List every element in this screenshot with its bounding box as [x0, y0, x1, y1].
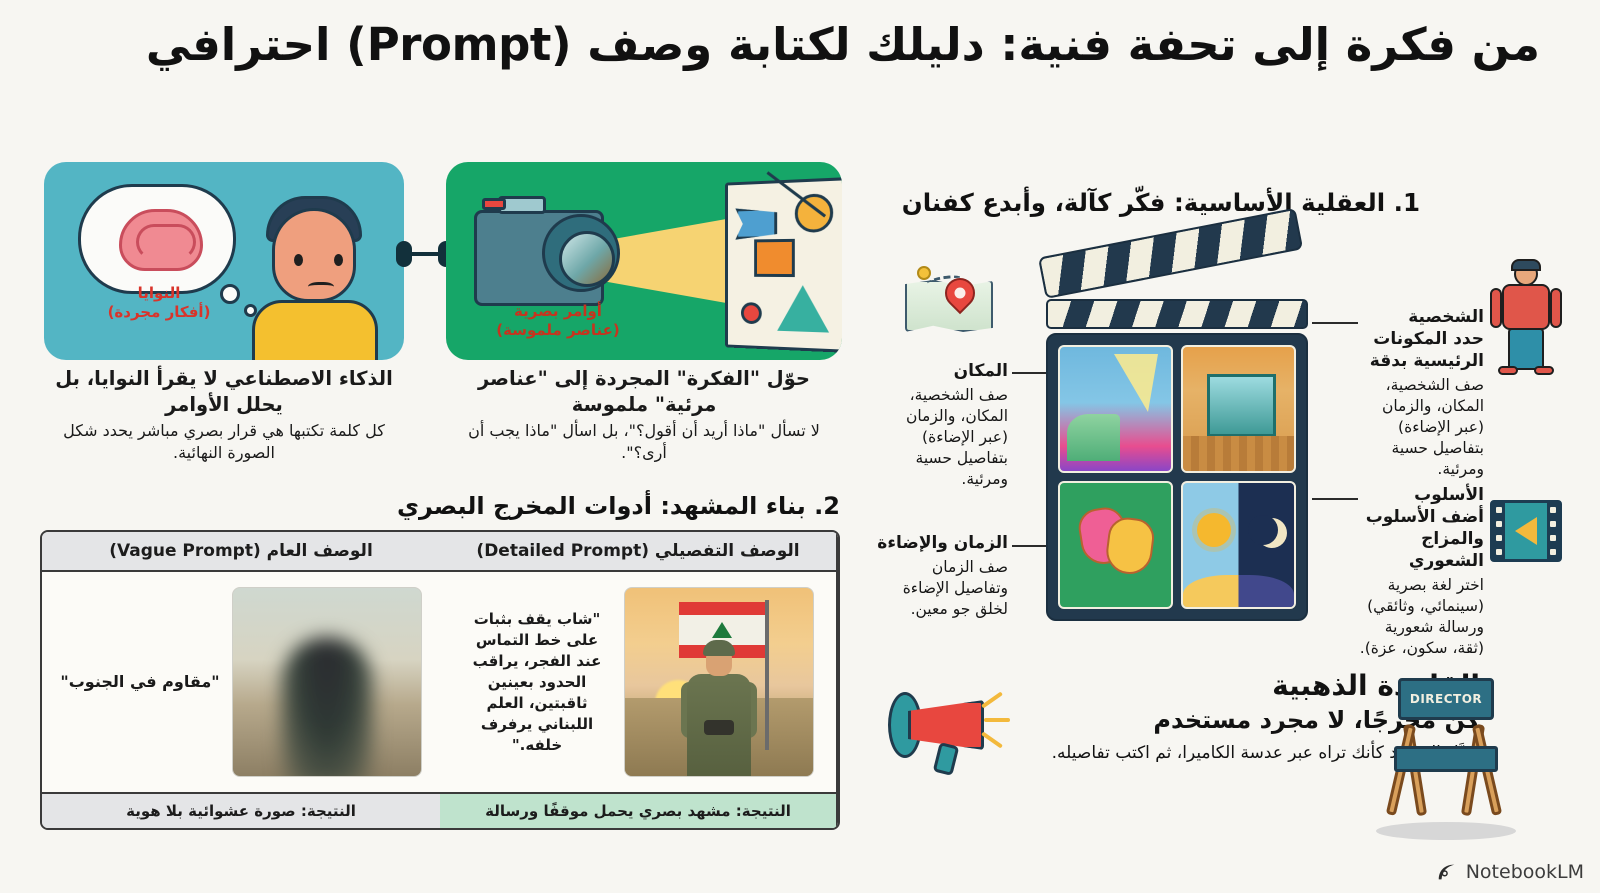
infographic-page: من فكرة إلى تحفة فنية: دليلك لكتابة وصف …	[0, 0, 1600, 893]
camera-shutter-button-icon	[482, 198, 506, 210]
watermark: NotebookLM	[1436, 861, 1584, 883]
table-footer-row: النتيجة: مشهد بصري يحمل موقفًا ورسالة ال…	[42, 792, 838, 828]
map-start-dot	[917, 266, 931, 280]
leader-line-style	[1312, 498, 1358, 500]
person-mouth	[308, 282, 334, 294]
daynight-ground	[1183, 575, 1294, 607]
visual-blurb-body: لا تسأل "ماذا أريد أن أقول؟"، بل اسأل "م…	[446, 420, 842, 463]
megaphone-icon	[880, 686, 1000, 778]
intent-blurb-headline: الذكاء الاصطناعي لا يقرأ النوايا، بل يحل…	[44, 366, 404, 417]
annotation-style: الأسلوب أضف الأسلوب والمزاج الشعوري اختر…	[1358, 484, 1484, 659]
table-body-row: "شاب يقف بثبات على خط التماس عند الفجر، …	[42, 572, 838, 792]
person-eye-left	[294, 254, 303, 266]
table-header-row: الوصف التفصيلي (Detailed Prompt) الوصف ا…	[42, 532, 838, 572]
person-arm-right	[1550, 288, 1562, 328]
megaphone-ray-1	[981, 691, 1003, 708]
clapperboard-icon	[1040, 295, 1310, 625]
table-cell-vague: "مقاوم في الجنوب"	[42, 572, 440, 792]
leader-line-character	[1312, 322, 1358, 324]
clapperboard-top-arm	[1038, 208, 1303, 299]
leader-line-place	[1012, 372, 1046, 374]
map-location-icon	[905, 262, 997, 338]
annotation-time-title: الزمان والإضاءة	[876, 532, 1008, 554]
shape-square-icon	[754, 239, 795, 277]
chair-backrest: DIRECTOR	[1398, 678, 1494, 720]
megaphone-ray-3	[981, 731, 1003, 748]
section-2-heading: 2. بناء المشهد: أدوات المخرج البصري	[40, 492, 840, 520]
visual-order-card: أوامر بصرية (عناصر ملموسة)	[446, 162, 842, 360]
annotation-time-body: صف الزمان وتفاصيل الإضاءة لخلق جو معين.	[876, 557, 1008, 620]
annotation-style-subtitle: أضف الأسلوب والمزاج الشعوري	[1358, 506, 1484, 572]
quadrant-mood-icon	[1058, 481, 1173, 609]
notebooklm-icon	[1436, 861, 1458, 883]
clapperboard-bottom-bar	[1046, 299, 1308, 329]
visual-blurb-headline: حوّل "الفكرة" المجردة إلى "عناصر مرئية" …	[446, 366, 842, 417]
binoculars-icon	[704, 720, 734, 735]
vague-prompt-quote: "مقاوم في الجنوب"	[60, 671, 219, 693]
shape-dot-icon	[741, 302, 762, 324]
annotation-place-body: صف الشخصية، المكان، والزمان (عبر الإضاءة…	[880, 385, 1008, 490]
quadrant-place-icon	[1181, 345, 1296, 473]
table-cell-detailed: "شاب يقف بثبات على خط التماس عند الفجر، …	[440, 572, 838, 792]
annotation-character-title: الشخصية	[1358, 306, 1484, 328]
theater-mask-happy-icon	[1104, 515, 1156, 576]
table-result-detailed: النتيجة: مشهد بصري يحمل موقفًا ورسالة	[440, 792, 838, 828]
visual-blurb: حوّل "الفكرة" المجردة إلى "عناصر مرئية" …	[446, 366, 842, 464]
camera-lens-icon	[542, 214, 620, 292]
person-cap	[1511, 259, 1541, 271]
canvas-board-icon	[725, 177, 842, 353]
film-perforations-left	[1493, 503, 1505, 559]
chair-seat	[1394, 746, 1498, 772]
film-strip-icon	[1490, 500, 1562, 562]
play-icon	[1515, 517, 1537, 545]
intent-card-caption: النوايا (أفكار مجردة)	[74, 284, 244, 322]
leader-line-time	[1012, 545, 1046, 547]
detailed-prompt-thumbnail	[624, 587, 814, 777]
annotation-style-body: اختر لغة بصرية (سينمائي، وثائقي) ورسالة …	[1358, 575, 1484, 659]
section-1-heading: 1. العقلية الأساسية: فكّر كآلة، وأبدع كف…	[860, 188, 1420, 217]
clapperboard-top-stripes	[1040, 210, 1301, 297]
chair-label: DIRECTOR	[1410, 692, 1482, 706]
annotation-place-title: المكان	[880, 360, 1008, 382]
megaphone-handle	[933, 742, 960, 776]
chair-shadow	[1376, 822, 1516, 840]
detailed-prompt-quote: "شاب يقف بثبات على خط التماس عند الفجر، …	[462, 609, 612, 756]
annotation-time-lighting: الزمان والإضاءة صف الزمان وتفاصيل الإضاء…	[876, 532, 1008, 620]
table-result-vague: النتيجة: صورة عشوائية بلا هوية	[42, 792, 440, 828]
moon-icon	[1248, 515, 1278, 545]
quadrant-style-icon	[1058, 345, 1173, 473]
person-shoe-right	[1534, 366, 1554, 375]
film-perforations-right	[1547, 503, 1559, 559]
person-torso	[1502, 284, 1550, 330]
megaphone-ray-2	[984, 718, 1010, 722]
intent-blurb-body: كل كلمة تكتبها هي قرار بصري مباشر يحدد ش…	[44, 420, 404, 463]
clapperboard-panel	[1046, 333, 1308, 621]
shape-flag-icon	[735, 207, 777, 239]
scene-soldier-helmet	[703, 640, 735, 656]
table-header-detailed: الوصف التفصيلي (Detailed Prompt)	[440, 532, 838, 572]
thought-bubble-icon	[78, 184, 236, 294]
intent-card: النوايا (أفكار مجردة)	[44, 162, 404, 360]
clapperboard-bottom-stripes	[1048, 301, 1306, 327]
sun-icon	[1197, 513, 1231, 547]
prompt-comparison-table: الوصف التفصيلي (Detailed Prompt) الوصف ا…	[40, 530, 840, 830]
annotation-character-subtitle: حدد المكونات الرئيسية بدقة	[1358, 328, 1484, 372]
annotation-style-title: الأسلوب	[1358, 484, 1484, 506]
page-title: من فكرة إلى تحفة فنية: دليلك لكتابة وصف …	[40, 18, 1540, 73]
table-header-vague: الوصف العام (Vague Prompt)	[42, 532, 440, 572]
visual-card-caption: أوامر بصرية (عناصر ملموسة)	[468, 302, 648, 340]
shape-triangle-icon	[777, 285, 829, 333]
character-person-icon	[1490, 262, 1562, 374]
intent-blurb: الذكاء الاصطناعي لا يقرأ النوايا، بل يحل…	[44, 366, 404, 464]
watermark-text: NotebookLM	[1466, 861, 1584, 883]
brain-icon	[119, 209, 203, 271]
director-chair-icon: DIRECTOR	[1370, 672, 1520, 842]
person-legs	[1508, 328, 1544, 370]
quadrant-time-lighting-icon	[1181, 481, 1296, 609]
annotation-character: الشخصية حدد المكونات الرئيسية بدقة صف ال…	[1358, 306, 1484, 480]
annotation-character-body: صف الشخصية، المكان، والزمان (عبر الإضاءة…	[1358, 375, 1484, 480]
annotation-place: المكان صف الشخصية، المكان، والزمان (عبر …	[880, 360, 1008, 490]
person-shoe-left	[1498, 366, 1518, 375]
vague-prompt-thumbnail	[232, 587, 422, 777]
person-eye-right	[334, 254, 343, 266]
person-arm-left	[1490, 288, 1502, 328]
scene-flag-pole	[765, 600, 769, 750]
person-body-icon	[252, 300, 378, 360]
